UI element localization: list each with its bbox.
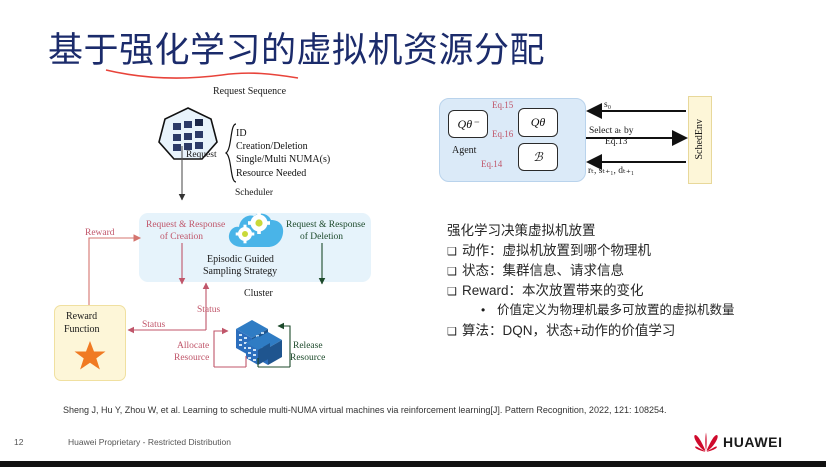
strategy-line2: Sampling Strategy [203, 266, 277, 277]
title-underline-squiggle [104, 66, 300, 80]
release-label-line1: Release [293, 341, 323, 351]
allocate-label-line2: Resource [174, 353, 209, 363]
bullet-item-state: ❑状态：集群信息、请求信息 [447, 259, 624, 279]
signal-select-action-line1: Select aₜ by [589, 125, 633, 136]
bullet-text: 状态：集群信息、请求信息 [462, 263, 624, 278]
reward-function-line1: Reward [66, 311, 97, 322]
request-sequence-label: Request Sequence [213, 86, 286, 97]
huawei-flower-icon [694, 432, 718, 452]
bullet-marker: ❑ [447, 245, 462, 258]
star-icon [74, 340, 106, 371]
page-title: 基于强化学习的虚拟机资源分配 [48, 33, 545, 68]
bullet-marker: ❑ [447, 325, 462, 338]
allocate-label-line1: Allocate [177, 341, 209, 351]
scheduler-label: Scheduler [235, 188, 273, 198]
bullet-item-algorithm: ❑算法：DQN，状态+动作的价值学习 [447, 319, 675, 339]
q-online-network-box: Qθ [518, 108, 558, 137]
reward-function-line2: Function [64, 324, 100, 335]
bullet-marker: ❑ [447, 285, 462, 298]
bottom-bar [0, 461, 826, 467]
bullet-text: 动作：虚拟机放置到哪个物理机 [462, 243, 651, 258]
attr-numa: Single/Multi NUMA(s) [236, 153, 330, 166]
attr-id: ID [236, 127, 330, 140]
deletion-label-line2: of Deletion [300, 232, 343, 242]
cluster-label: Cluster [244, 288, 273, 299]
reward-arrow-label: Reward [85, 228, 115, 238]
signal-select-action-line2: Eq.13 [605, 137, 627, 147]
equation-14-label: Eq.14 [481, 159, 502, 169]
equation-15-label: Eq.15 [492, 100, 513, 110]
bullet-marker: • [481, 303, 497, 317]
attr-creation-deletion: Creation/Deletion [236, 140, 330, 153]
confidentiality-notice: Huawei Proprietary - Restricted Distribu… [68, 437, 231, 447]
signal-initial-state: s₀ [604, 100, 611, 110]
bullet-text: 价值定义为物理机最多可放置的虚拟机数量 [497, 303, 735, 317]
bullet-text: 算法：DQN，状态+动作的价值学习 [462, 323, 675, 338]
request-arrow-label: Request [186, 150, 217, 160]
q-target-network-box: Qθ⁻ [448, 110, 488, 138]
huawei-wordmark: HUAWEI [723, 434, 783, 450]
page-number: 12 [14, 437, 23, 447]
status-label-mid: Status [197, 305, 220, 315]
bullets-heading: 强化学习决策虚拟机放置 [447, 219, 596, 239]
status-label-left: Status [142, 320, 165, 330]
bullet-item-action: ❑动作：虚拟机放置到哪个物理机 [447, 239, 651, 259]
attr-resource: Resource Needed [236, 167, 330, 180]
huawei-logo: HUAWEI [694, 432, 783, 452]
cloud-gears-icon [226, 211, 286, 253]
bullet-text: Reward：本次放置带来的变化 [462, 283, 644, 298]
creation-label-line2: of Creation [160, 232, 203, 242]
release-label-line2: Resource [290, 353, 325, 363]
replay-buffer-box: ℬ [518, 143, 558, 171]
deletion-label-line1: Request & Response [286, 220, 365, 230]
bullet-marker: ❑ [447, 265, 462, 278]
bullet-item-reward: ❑Reward：本次放置带来的变化 [447, 279, 644, 299]
equation-16-label: Eq.16 [492, 129, 513, 139]
sched-env-label: SchedEnv [688, 96, 710, 182]
signal-feedback: rₜ, sₜ₊₁, dₜ₊₁ [588, 165, 634, 176]
slide-canvas: 基于强化学习的虚拟机资源分配 Request Sequence Request … [0, 0, 826, 467]
creation-label-line1: Request & Response [146, 220, 225, 230]
citation-text: Sheng J, Hu Y, Zhou W, et al. Learning t… [63, 405, 667, 415]
agent-label: Agent [452, 145, 476, 156]
bullet-item-value-definition: •价值定义为物理机最多可放置的虚拟机数量 [481, 299, 735, 318]
strategy-line1: Episodic Guided [207, 254, 274, 265]
request-attribute-list: ID Creation/Deletion Single/Multi NUMA(s… [236, 127, 330, 180]
server-racks-icon [228, 313, 290, 371]
